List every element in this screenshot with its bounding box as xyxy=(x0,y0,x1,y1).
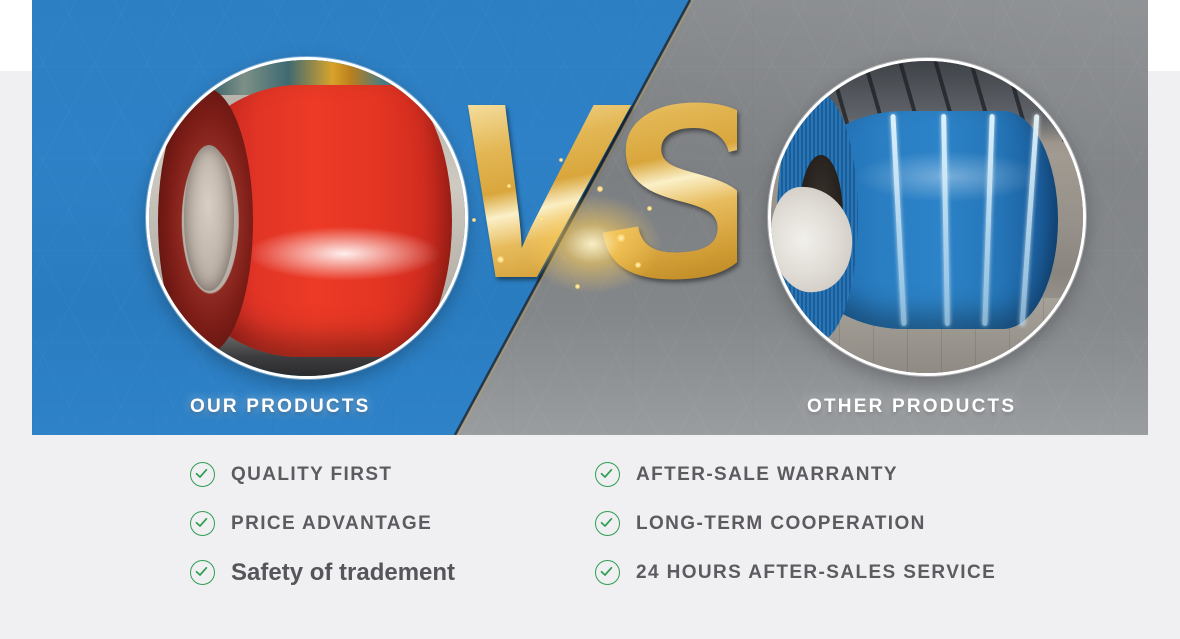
feature-item: QUALITY FIRST xyxy=(190,450,455,499)
feature-label: 24 HOURS AFTER-SALES SERVICE xyxy=(636,562,996,584)
feature-label: Safety of tradement xyxy=(231,559,455,587)
our-products-caption: OUR PRODUCTS xyxy=(190,396,371,418)
feature-column-right: AFTER-SALE WARRANTY LONG-TERM COOPERATIO… xyxy=(595,450,996,597)
feature-item: AFTER-SALE WARRANTY xyxy=(595,450,996,499)
check-circle-icon xyxy=(190,511,215,536)
feature-label: AFTER-SALE WARRANTY xyxy=(636,464,898,486)
feature-list: QUALITY FIRST PRICE ADVANTAGE Safety of … xyxy=(0,450,1180,610)
page-root: VS OUR PRODUCTS OTHER PRODUCTS QUALITY F… xyxy=(0,0,1180,639)
feature-item: PRICE ADVANTAGE xyxy=(190,499,455,548)
feature-label: QUALITY FIRST xyxy=(231,464,392,486)
red-coil-image xyxy=(149,60,465,376)
check-circle-icon xyxy=(190,560,215,585)
feature-label: PRICE ADVANTAGE xyxy=(231,513,432,535)
comparison-banner: VS OUR PRODUCTS OTHER PRODUCTS xyxy=(32,0,1148,435)
check-circle-icon xyxy=(595,560,620,585)
red-coil-bore xyxy=(184,145,235,290)
our-product-photo xyxy=(146,57,468,379)
feature-label: LONG-TERM COOPERATION xyxy=(636,513,926,535)
blue-coil-image xyxy=(771,61,1083,373)
feature-item: 24 HOURS AFTER-SALES SERVICE xyxy=(595,548,996,597)
feature-item: LONG-TERM COOPERATION xyxy=(595,499,996,548)
check-circle-icon xyxy=(595,511,620,536)
other-products-caption: OTHER PRODUCTS xyxy=(807,396,1016,418)
other-product-photo xyxy=(768,58,1086,376)
check-circle-icon xyxy=(595,462,620,487)
check-circle-icon xyxy=(190,462,215,487)
feature-item: Safety of tradement xyxy=(190,548,455,597)
feature-column-left: QUALITY FIRST PRICE ADVANTAGE Safety of … xyxy=(190,450,455,597)
